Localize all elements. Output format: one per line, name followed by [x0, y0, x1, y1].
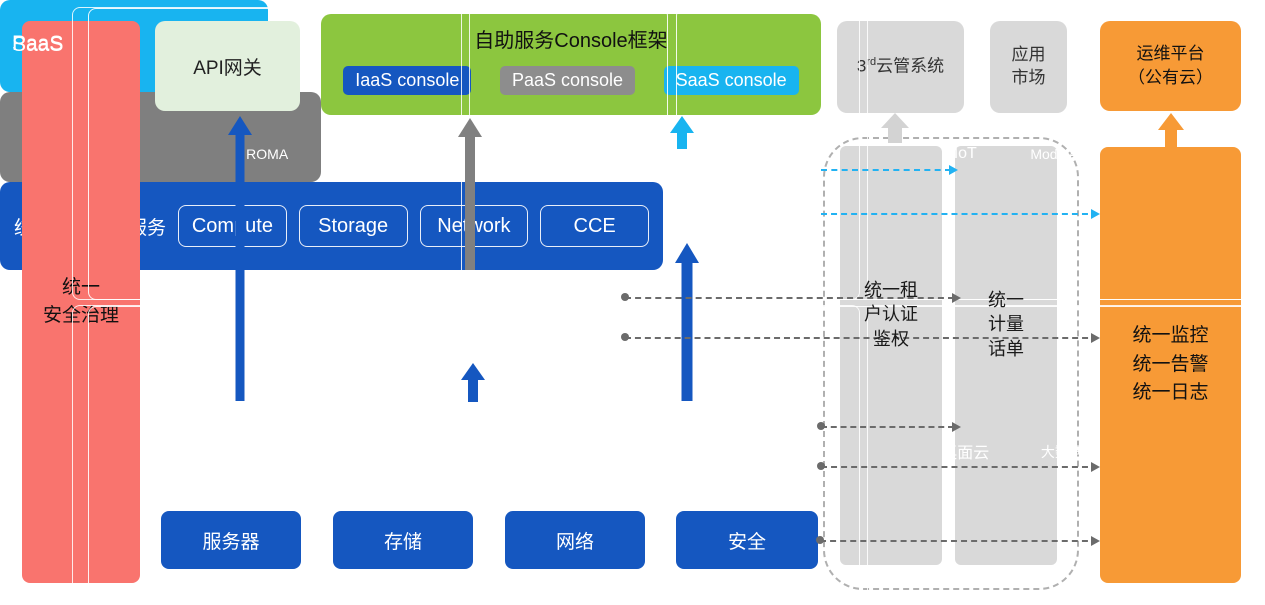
resource-box-storage[interactable]: 存储 — [333, 511, 473, 569]
dashed-infra-to-auth — [821, 426, 954, 428]
unified-billing-label: 统一 计量 话单 — [955, 288, 1057, 361]
arrowhead-saas-to-ops — [1091, 209, 1100, 219]
arrowhead-paas-to-ops — [1091, 333, 1100, 343]
arrow-infra-to-paas — [461, 363, 485, 402]
arrow-bracket-to-third-party — [880, 113, 910, 143]
paas-item-roma[interactable]: ROMA — [72, 7, 462, 300]
dashed-resources-to-ops — [820, 540, 1098, 542]
arrow-saas-to-console — [670, 116, 694, 149]
dashed-saas-to-auth — [821, 169, 951, 171]
arrowhead-saas-to-auth — [949, 165, 958, 175]
dot-paas-row1 — [621, 293, 629, 301]
architecture-diagram: 统一 安全治理 API网关 自助服务Console框架 IaaS console… — [0, 0, 1265, 605]
arrowhead-resources-to-ops — [1091, 536, 1100, 546]
arrow-infra-to-api-gateway — [228, 116, 252, 401]
paas-item-dgc[interactable]: DGC — [469, 7, 859, 300]
dot-infra-upper — [817, 422, 825, 430]
paas-label: PaaS — [12, 32, 63, 56]
arrowhead-infra-to-auth — [952, 422, 961, 432]
paas-item-modelarts[interactable]: ModelArts — [867, 7, 1257, 300]
dot-infra-lower — [817, 462, 825, 470]
resource-box-security[interactable]: 安全 — [676, 511, 818, 569]
arrow-paas-to-console — [458, 118, 482, 270]
resource-box-server[interactable]: 服务器 — [161, 511, 301, 569]
arrow-ops-column-to-platform — [1157, 113, 1185, 149]
dashed-saas-to-ops — [821, 213, 1098, 215]
unified-tenant-auth-label: 统一租 户认证 鉴权 — [840, 278, 942, 351]
arrowhead-infra-to-ops — [1091, 462, 1100, 472]
dot-resources — [816, 536, 824, 544]
resource-box-network[interactable]: 网络 — [505, 511, 645, 569]
arrow-infra-to-saas — [674, 243, 700, 401]
dashed-infra-to-ops — [821, 466, 1098, 468]
dot-paas-row2 — [621, 333, 629, 341]
